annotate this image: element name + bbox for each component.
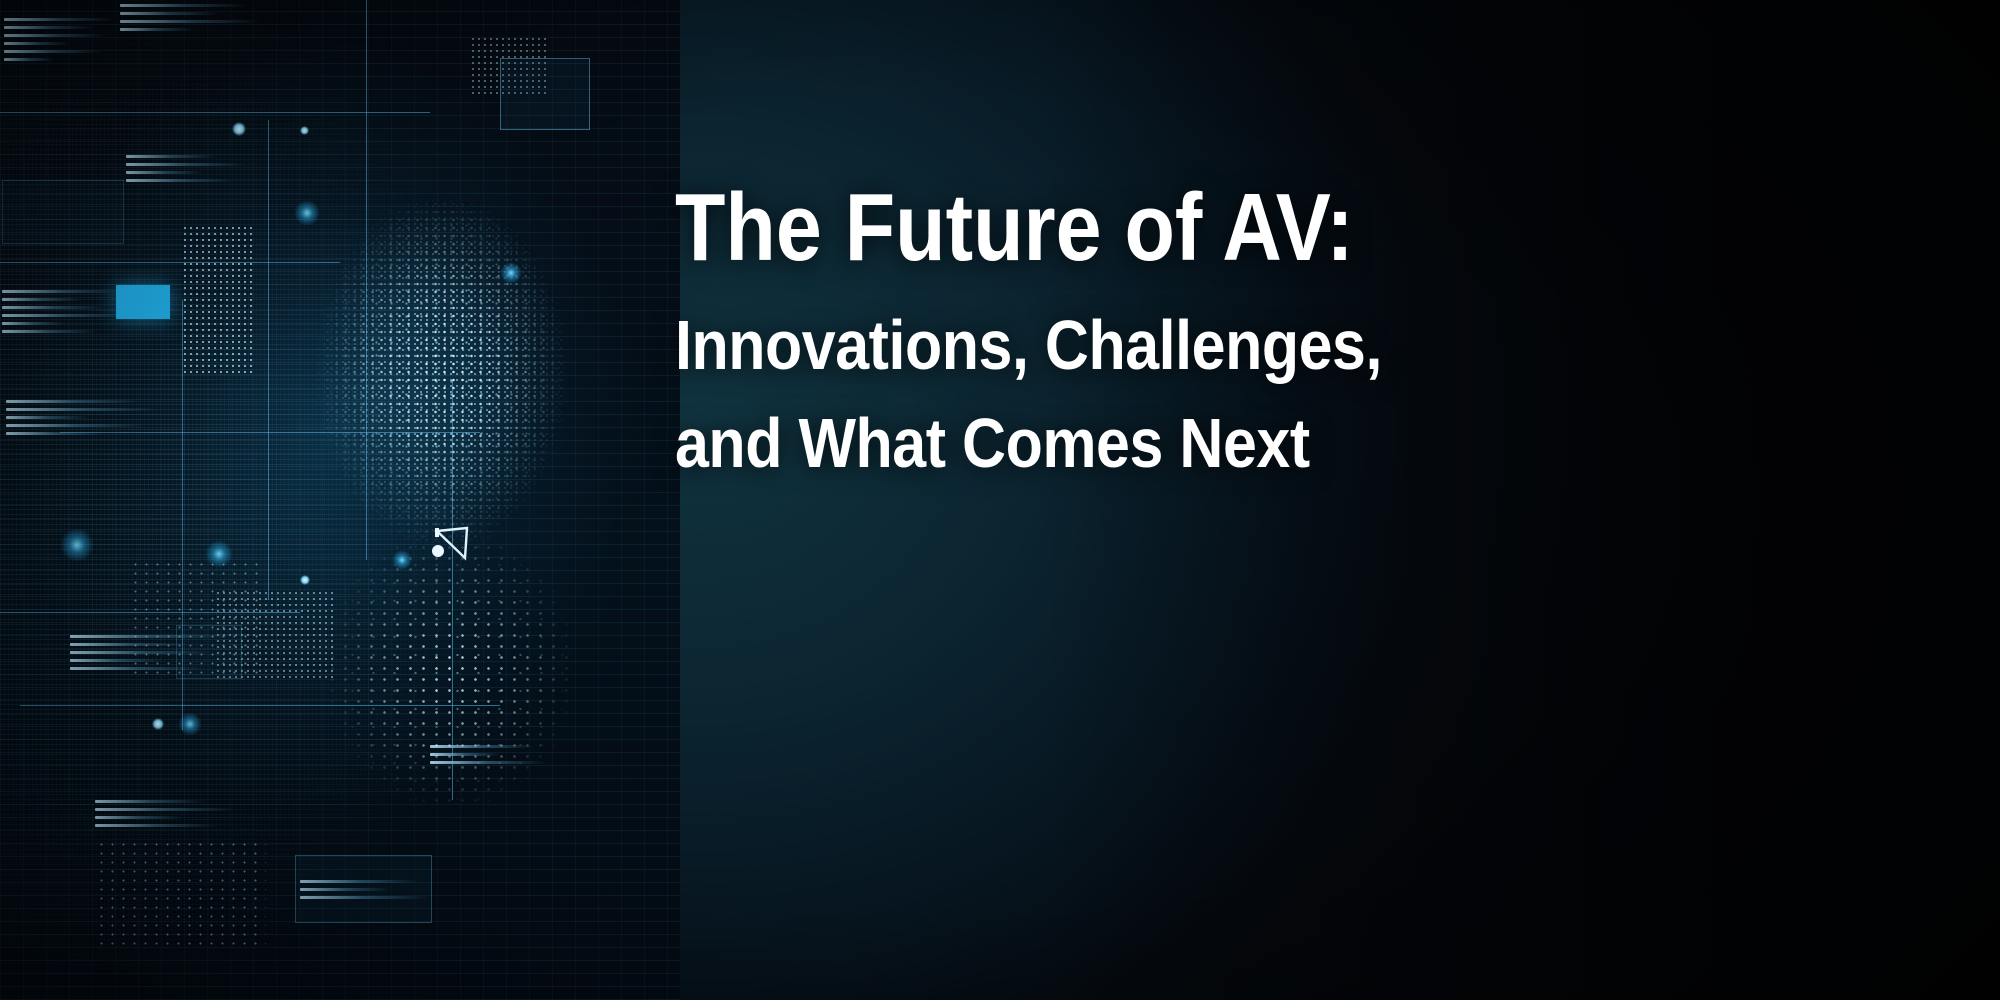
- hero-banner: The Future of AV: Innovations, Challenge…: [0, 0, 2000, 1000]
- title-line-1: The Future of AV:: [675, 176, 1759, 280]
- vignette-overlay: [0, 0, 2000, 1000]
- title-line-3: and What Comes Next: [675, 394, 1771, 492]
- title-line-2: Innovations, Challenges,: [675, 296, 1771, 394]
- banner-title-block: The Future of AV: Innovations, Challenge…: [675, 176, 1935, 492]
